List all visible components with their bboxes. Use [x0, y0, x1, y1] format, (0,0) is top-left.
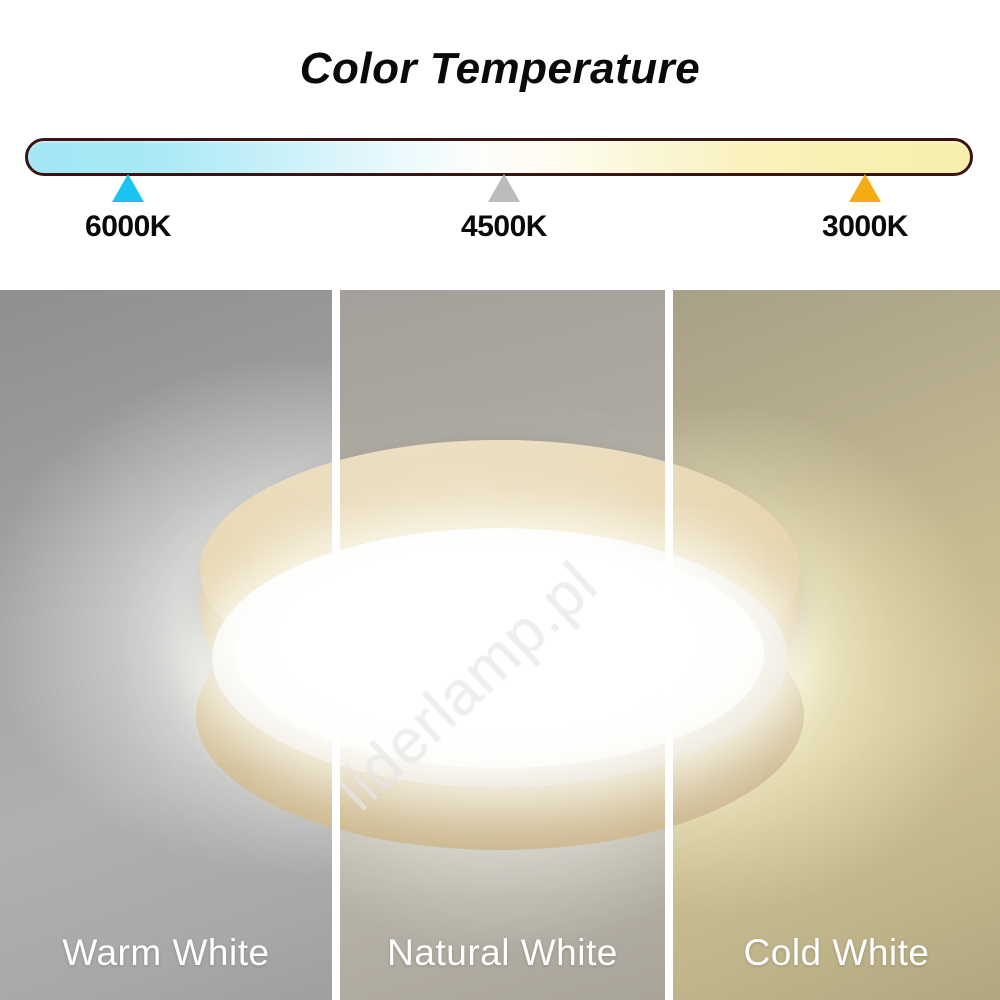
marker-4500k-triangle-icon[interactable]	[488, 174, 520, 202]
panel-warm-white[interactable]: liderlamp.pl Warm White	[0, 290, 332, 1000]
marker-3000k-triangle-icon[interactable]	[849, 174, 881, 202]
lamp-image-warm: liderlamp.pl	[0, 290, 332, 1000]
panel-divider-1	[332, 290, 340, 1000]
lamp-preview-panels: liderlamp.pl Warm White liderlamp.pl Nat…	[0, 290, 1000, 1000]
panel-caption-natural-white: Natural White	[340, 932, 665, 974]
lamp-image-cold: liderlamp.pl	[673, 290, 1000, 1000]
color-temperature-infographic: Color Temperature 6000K 4500K 3000K lide…	[0, 0, 1000, 1000]
color-temperature-scale: 6000K 4500K 3000K	[0, 130, 1000, 260]
kelvin-label-4500k: 4500K	[394, 210, 614, 244]
page-title: Color Temperature	[0, 44, 1000, 94]
marker-6000k-triangle-icon[interactable]	[112, 174, 144, 202]
lamp-diffuser-core	[340, 540, 665, 768]
panel-divider-2	[665, 290, 673, 1000]
panel-cold-white[interactable]: liderlamp.pl Cold White	[673, 290, 1000, 1000]
panel-natural-white[interactable]: liderlamp.pl Natural White	[340, 290, 665, 1000]
kelvin-label-6000k: 6000K	[18, 210, 238, 244]
panel-caption-warm-white: Warm White	[0, 932, 332, 974]
lamp-image-natural: liderlamp.pl	[340, 290, 665, 1000]
panel-caption-cold-white: Cold White	[673, 932, 1000, 974]
kelvin-label-3000k: 3000K	[755, 210, 975, 244]
temperature-gradient-bar	[25, 138, 973, 176]
